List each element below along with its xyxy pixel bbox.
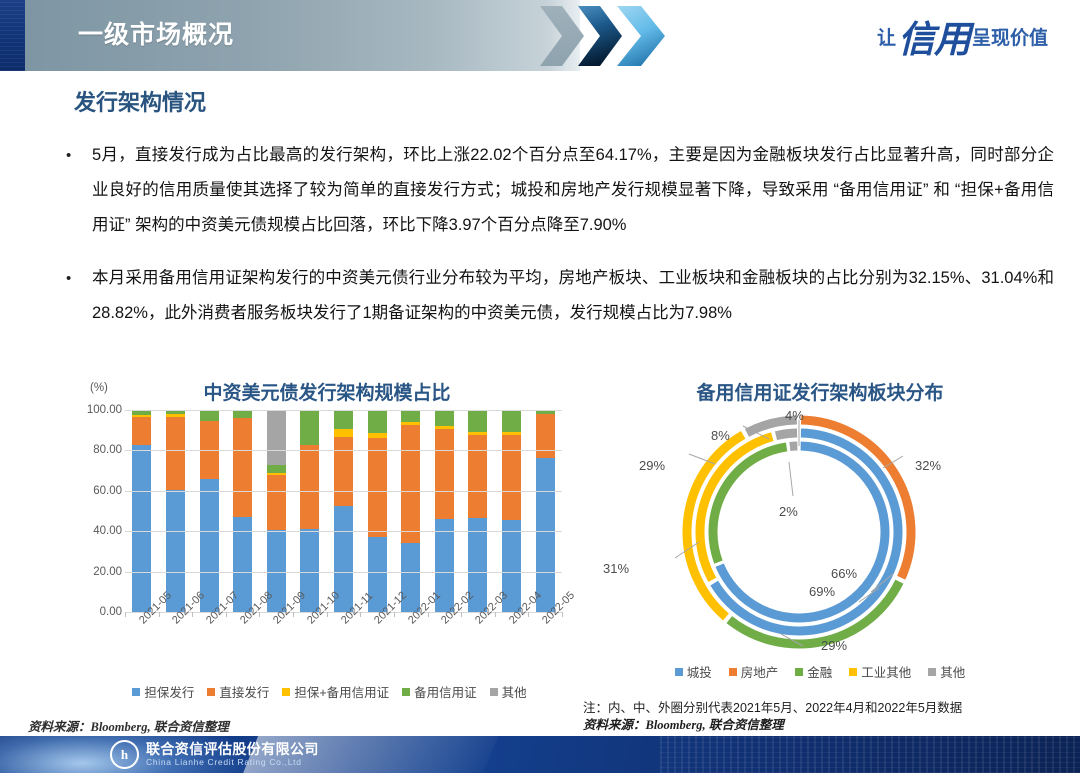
bullet-text: 5月，直接发行成为占比最高的发行架构，环比上涨22.02个百分点至64.17%，… — [92, 138, 1054, 243]
legend-label: 工业其他 — [861, 662, 911, 681]
bar-segment-担保发行[interactable] — [536, 458, 555, 612]
donut-data-label: 32% — [915, 458, 941, 473]
legend-item-工业其他[interactable]: 工业其他 — [849, 662, 911, 681]
bar-segment-备用信用证[interactable] — [267, 465, 286, 473]
bar-segment-备用信用证[interactable] — [233, 410, 252, 418]
gridline — [125, 450, 562, 451]
donut-chart-legend: 城投房地产金融工业其他其他 — [575, 662, 1065, 681]
bar-segment-备用信用证[interactable] — [200, 410, 219, 421]
stacked-bar[interactable] — [435, 410, 454, 612]
x-axis-tick — [192, 612, 193, 617]
footer-texture — [660, 736, 1080, 773]
donut-data-label: 29% — [639, 458, 665, 473]
callout-leader-line — [789, 462, 793, 496]
gridline — [125, 491, 562, 492]
y-axis-tick-label: 20.00 — [72, 566, 122, 578]
legend-item-备用信用证[interactable]: 备用信用证 — [402, 682, 477, 701]
bar-column[interactable] — [495, 410, 529, 612]
bar-segment-直接发行[interactable] — [132, 417, 151, 444]
bar-segment-备用信用证[interactable] — [334, 410, 353, 429]
legend-label: 其他 — [940, 662, 965, 681]
legend-item-房地产[interactable]: 房地产 — [729, 662, 779, 681]
donut-data-label: 29% — [821, 638, 847, 653]
stacked-bar[interactable] — [468, 410, 487, 612]
bullet-text: 本月采用备用信用证架构发行的中资美元债行业分布较为平均，房地产板块、工业板块和金… — [92, 261, 1054, 331]
legend-item-直接发行[interactable]: 直接发行 — [207, 682, 269, 701]
header-left-stripe — [0, 0, 25, 71]
bar-segment-直接发行[interactable] — [334, 437, 353, 507]
legend-swatch-icon — [132, 688, 140, 696]
stacked-bar[interactable] — [233, 410, 252, 612]
bar-chart: (%) 中资美元债发行架构规模占比 0.0020.0040.0060.0080.… — [70, 374, 575, 719]
bar-segment-直接发行[interactable] — [435, 429, 454, 519]
donut-source: 资料来源：Bloomberg, 联合资信整理 — [583, 717, 962, 734]
company-name-cn: 联合资信评估股份有限公司 — [146, 742, 319, 757]
bar-segment-备用信用证[interactable] — [468, 410, 487, 432]
stacked-bar[interactable] — [401, 410, 420, 612]
legend-label: 担保+备用信用证 — [294, 682, 389, 701]
y-axis-tick-label: 0.00 — [72, 606, 122, 618]
stacked-bar[interactable] — [200, 410, 219, 612]
bar-chart-plot-area — [125, 410, 562, 612]
stacked-bar[interactable] — [334, 410, 353, 612]
donut-slice-中圈 2022年4月-其他[interactable] — [776, 433, 797, 436]
legend-label: 房地产 — [741, 662, 779, 681]
bar-column[interactable] — [360, 410, 394, 612]
bar-column[interactable] — [192, 410, 226, 612]
donut-data-label: 69% — [809, 584, 835, 599]
bar-column[interactable] — [293, 410, 327, 612]
legend-item-其他[interactable]: 其他 — [928, 662, 965, 681]
bar-segment-直接发行[interactable] — [536, 414, 555, 458]
gridline — [125, 531, 562, 532]
legend-label: 金融 — [807, 662, 832, 681]
y-axis-tick-label: 60.00 — [72, 485, 122, 497]
bar-column[interactable] — [427, 410, 461, 612]
donut-data-label: 66% — [831, 566, 857, 581]
legend-item-其他[interactable]: 其他 — [490, 682, 527, 701]
bar-segment-直接发行[interactable] — [267, 475, 286, 530]
stacked-bar[interactable] — [132, 410, 151, 612]
section-title: 发行架构情况 — [74, 85, 206, 117]
legend-swatch-icon — [928, 668, 936, 676]
bar-segment-备用信用证[interactable] — [368, 410, 387, 433]
chevron-icon-3 — [617, 4, 663, 68]
list-item: • 本月采用备用信用证架构发行的中资美元债行业分布较为平均，房地产板块、工业板块… — [62, 261, 1054, 331]
donut-chart: 备用信用证发行架构板块分布 4%8%29%32%2%31%66%69%29% 城… — [575, 374, 1065, 719]
bar-segment-担保+备用信用证[interactable] — [334, 429, 353, 436]
donut-data-label: 8% — [711, 428, 730, 443]
slogan-main: 信用 — [896, 9, 972, 63]
slogan-prefix: 让 — [877, 23, 896, 50]
legend-item-担保+备用信用证[interactable]: 担保+备用信用证 — [282, 682, 389, 701]
legend-item-担保发行[interactable]: 担保发行 — [132, 682, 194, 701]
x-axis-tick — [461, 612, 462, 617]
bar-column[interactable] — [394, 410, 428, 612]
bar-segment-直接发行[interactable] — [401, 425, 420, 543]
legend-item-城投[interactable]: 城投 — [675, 662, 712, 681]
stacked-bar[interactable] — [536, 410, 555, 612]
bar-segment-备用信用证[interactable] — [300, 410, 319, 445]
legend-swatch-icon — [675, 668, 683, 676]
brand-slogan: 让 信用 呈现价值 — [877, 12, 1048, 60]
donut-slice-内圈 2021年5月-城投[interactable] — [720, 446, 885, 618]
donut-chart-title: 备用信用证发行架构板块分布 — [575, 378, 1065, 405]
legend-swatch-icon — [207, 688, 215, 696]
bar-column[interactable] — [159, 410, 193, 612]
bar-segment-担保发行[interactable] — [132, 445, 151, 612]
x-axis-tick — [125, 612, 126, 617]
donut-data-label: 31% — [603, 561, 629, 576]
gridline — [125, 572, 562, 573]
legend-swatch-icon — [849, 668, 857, 676]
legend-swatch-icon — [490, 688, 498, 696]
legend-item-金融[interactable]: 金融 — [795, 662, 832, 681]
bar-segment-备用信用证[interactable] — [401, 410, 420, 422]
bar-chart-y-axis: 0.0020.0040.0060.0080.00100.00 — [70, 410, 122, 612]
stacked-bar[interactable] — [166, 410, 185, 612]
donut-data-label: 4% — [785, 408, 804, 423]
donut-data-label: 2% — [779, 504, 798, 519]
bar-chart-x-axis: 2021-052021-062021-072021-082021-092021-… — [125, 618, 562, 673]
bar-segment-备用信用证[interactable] — [502, 410, 521, 432]
bar-segment-其他[interactable] — [267, 410, 286, 465]
stacked-bar[interactable] — [502, 410, 521, 612]
bar-chart-legend: 担保发行直接发行担保+备用信用证备用信用证其他 — [82, 682, 577, 701]
bar-chart-unit-label: (%) — [90, 382, 108, 394]
slogan-suffix: 呈现价值 — [972, 23, 1048, 50]
bar-segment-直接发行[interactable] — [368, 438, 387, 537]
legend-swatch-icon — [402, 688, 410, 696]
bar-column[interactable] — [528, 410, 562, 612]
bar-segment-直接发行[interactable] — [233, 418, 252, 517]
bar-segment-直接发行[interactable] — [502, 435, 521, 520]
bullet-marker: • — [62, 138, 92, 243]
legend-swatch-icon — [729, 668, 737, 676]
bar-segment-直接发行[interactable] — [166, 417, 185, 490]
legend-label: 其他 — [502, 682, 527, 701]
bar-segment-直接发行[interactable] — [300, 445, 319, 529]
legend-label: 备用信用证 — [414, 682, 477, 701]
donut-chart-plot-area: 4%8%29%32%2%31%66%69%29% — [603, 406, 1023, 658]
bar-segment-备用信用证[interactable] — [435, 410, 454, 426]
page-header: 一级市场概况 让 信用 呈现价值 — [0, 0, 1080, 71]
stacked-bar[interactable] — [300, 410, 319, 612]
stacked-bar[interactable] — [368, 410, 387, 612]
legend-swatch-icon — [282, 688, 290, 696]
source-note-left: 资料来源：Bloomberg, 联合资信整理 — [28, 716, 229, 735]
legend-label: 直接发行 — [219, 682, 269, 701]
donut-note: 注：内、中、外圈分别代表2021年5月、2022年4月和2022年5月数据 — [583, 700, 962, 717]
list-item: • 5月，直接发行成为占比最高的发行架构，环比上涨22.02个百分点至64.17… — [62, 138, 1054, 243]
bullet-marker: • — [62, 261, 92, 331]
bar-segment-直接发行[interactable] — [468, 435, 487, 518]
legend-label: 担保发行 — [144, 682, 194, 701]
company-name-en: China Lianhe Credit Rating Co.,Ltd — [146, 757, 319, 768]
y-axis-tick-label: 40.00 — [72, 525, 122, 537]
legend-label: 城投 — [687, 662, 712, 681]
company-logo: h 联合资信评估股份有限公司 China Lianhe Credit Ratin… — [110, 740, 319, 769]
bar-chart-title: 中资美元债发行架构规模占比 — [162, 378, 492, 405]
lianhe-logo-icon: h — [110, 740, 139, 769]
legend-swatch-icon — [795, 668, 803, 676]
y-axis-tick-label: 100.00 — [72, 404, 122, 416]
stacked-bar[interactable] — [267, 410, 286, 612]
page-title: 一级市场概况 — [78, 18, 234, 52]
donut-chart-notes: 注：内、中、外圈分别代表2021年5月、2022年4月和2022年5月数据 资料… — [583, 700, 962, 734]
bar-column[interactable] — [461, 410, 495, 612]
gridline — [125, 410, 562, 411]
bar-segment-担保发行[interactable] — [200, 479, 219, 612]
bar-column[interactable] — [259, 410, 293, 612]
bar-chart-bars — [125, 410, 562, 612]
bar-column[interactable] — [327, 410, 361, 612]
bar-column[interactable] — [125, 410, 159, 612]
bullet-list: • 5月，直接发行成为占比最高的发行架构，环比上涨22.02个百分点至64.17… — [62, 138, 1054, 349]
page-footer: h 联合资信评估股份有限公司 China Lianhe Credit Ratin… — [0, 736, 1080, 773]
bar-column[interactable] — [226, 410, 260, 612]
y-axis-tick-label: 80.00 — [72, 444, 122, 456]
